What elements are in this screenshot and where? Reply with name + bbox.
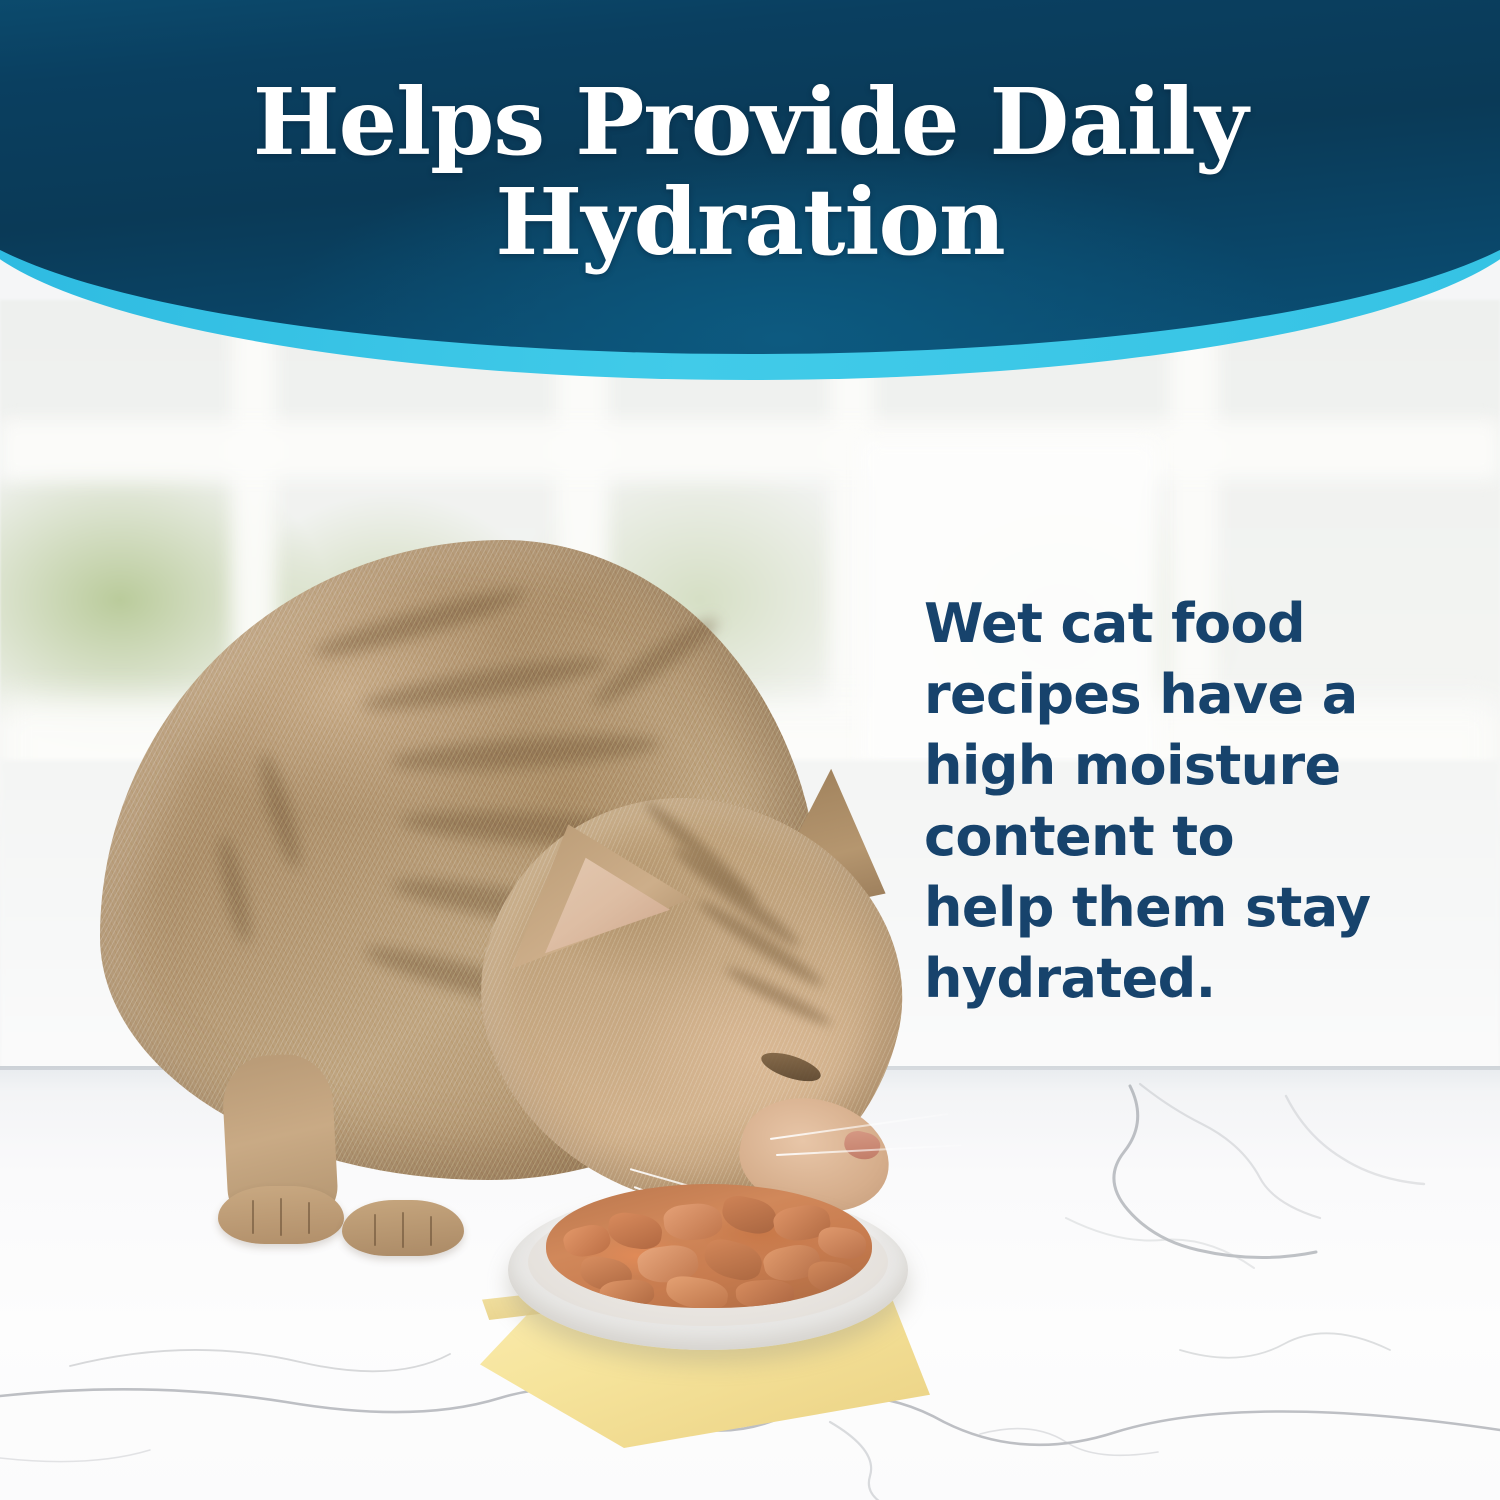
- body-copy-line-2: recipes have a: [924, 659, 1424, 730]
- food-bowl-group: [470, 1180, 970, 1460]
- body-copy-line-3: high moisture: [924, 730, 1424, 801]
- body-copy-line-1: Wet cat food: [924, 588, 1424, 659]
- body-copy-line-4: content to: [924, 801, 1424, 872]
- body-copy-line-5: help them stay: [924, 872, 1424, 943]
- cat-illustration: [60, 500, 940, 1260]
- header-banner: Helps Provide Daily Hydration: [0, 0, 1500, 400]
- body-copy: Wet cat food recipes have a high moistur…: [924, 588, 1424, 1014]
- body-copy-line-6: hydrated.: [924, 943, 1424, 1014]
- promo-image: Helps Provide Daily Hydration Wet cat fo…: [0, 0, 1500, 1500]
- wet-cat-food: [546, 1184, 872, 1308]
- banner-title-line-1: Helps Provide Daily: [0, 72, 1500, 172]
- cat-paw: [342, 1200, 464, 1256]
- banner-title: Helps Provide Daily Hydration: [0, 72, 1500, 272]
- cat-paw: [218, 1186, 344, 1244]
- window-frame: [0, 420, 1500, 480]
- banner-title-line-2: Hydration: [0, 172, 1500, 272]
